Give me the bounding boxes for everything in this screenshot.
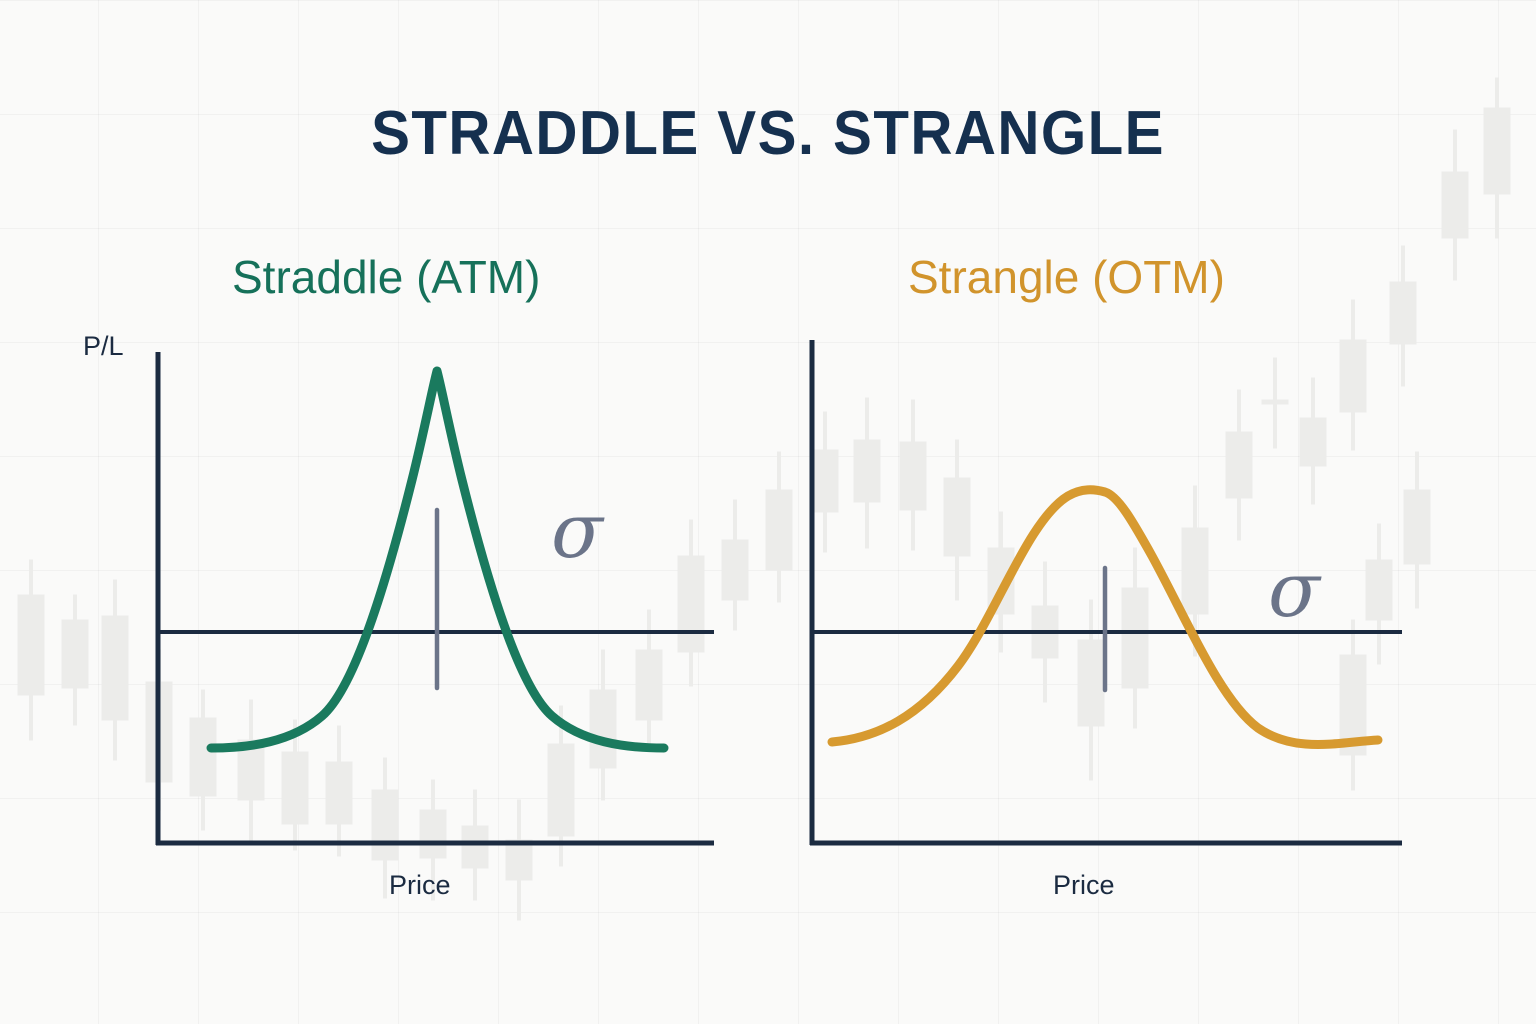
infographic-canvas: STRADDLE VS. STRANGLE Straddle (ATM) Str… bbox=[0, 0, 1536, 1024]
x-axis-label-right: Price bbox=[1053, 870, 1115, 901]
y-axis-label-left: P/L bbox=[83, 331, 124, 362]
sigma-symbol-left: σ bbox=[551, 493, 603, 569]
sigma-symbol-right: σ bbox=[1268, 552, 1320, 628]
strangle-chart bbox=[0, 0, 1536, 1024]
x-axis-label-left: Price bbox=[389, 870, 451, 901]
